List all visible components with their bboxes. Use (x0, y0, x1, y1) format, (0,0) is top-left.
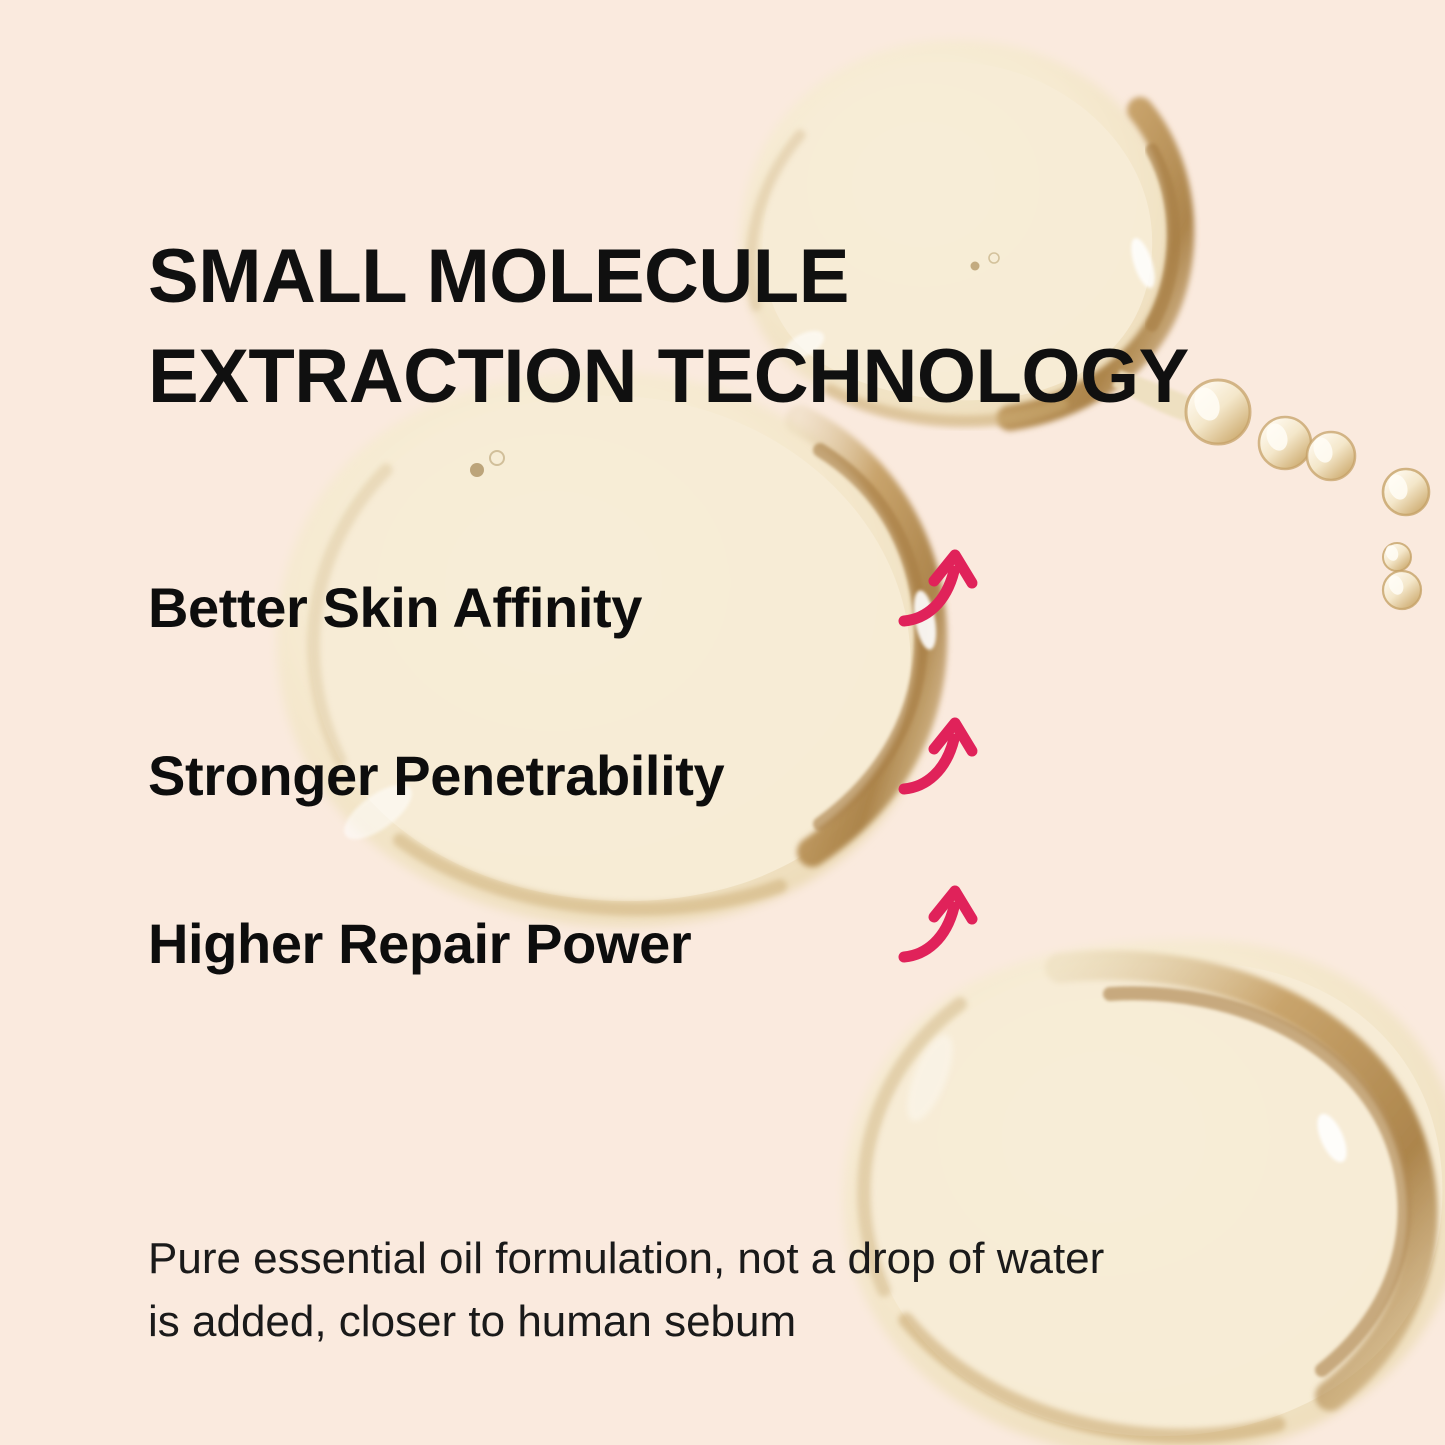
headline-line-2: EXTRACTION TECHNOLOGY (148, 327, 1368, 427)
promo-poster: SMALL MOLECULE EXTRACTION TECHNOLOGY Bet… (0, 0, 1445, 1445)
feature-label: Stronger Penetrability (148, 743, 724, 808)
curved-up-arrow-icon (896, 537, 982, 633)
feature-item-better-skin-affinity: Better Skin Affinity (148, 575, 1328, 743)
feature-list: Better Skin Affinity Stronger Penetrabil… (148, 575, 1328, 1079)
page-title: SMALL MOLECULE EXTRACTION TECHNOLOGY (148, 227, 1368, 428)
caption-line-1: Pure essential oil formulation, not a dr… (148, 1227, 1328, 1290)
curved-up-arrow-icon (896, 873, 982, 969)
caption: Pure essential oil formulation, not a dr… (148, 1227, 1328, 1354)
headline-line-1: SMALL MOLECULE (148, 227, 1368, 327)
curved-up-arrow-icon (896, 705, 982, 801)
caption-line-2: is added, closer to human sebum (148, 1290, 1328, 1353)
feature-item-higher-repair-power: Higher Repair Power (148, 911, 1328, 1079)
feature-label: Higher Repair Power (148, 911, 691, 976)
feature-label: Better Skin Affinity (148, 575, 642, 640)
feature-item-stronger-penetrability: Stronger Penetrability (148, 743, 1328, 911)
